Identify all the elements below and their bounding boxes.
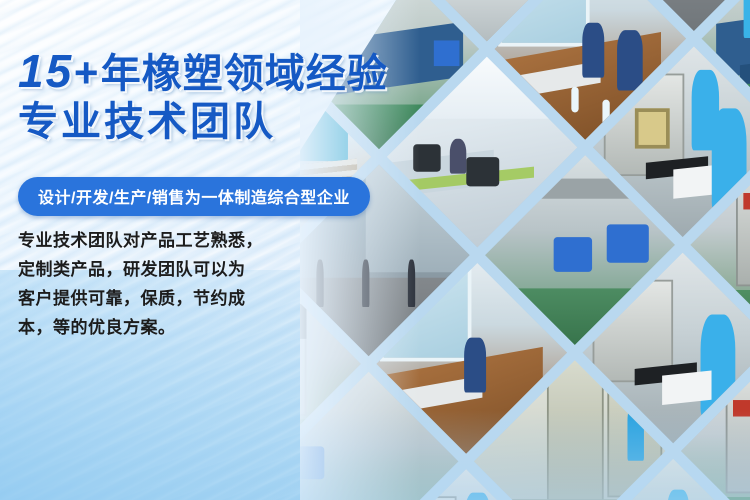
years-number: 15 — [18, 45, 73, 97]
promo-banner: 15+年橡塑领域经验 专业技术团队 设计/开发/生产/销售为一体制造综合型企业 … — [0, 0, 750, 500]
body-paragraph-line: 客户提供可靠，保质，节约成 — [18, 284, 280, 313]
headline-line-1: 15+年橡塑领域经验 — [18, 48, 468, 94]
body-paragraph-line: 专业技术团队对产品工艺熟悉， — [18, 226, 280, 255]
body-paragraph-line: 定制类产品，研发团队可以为 — [18, 255, 280, 284]
plus-symbol-icon: + — [73, 49, 99, 96]
body-paragraph: 专业技术团队对产品工艺熟悉， 定制类产品，研发团队可以为 客户提供可靠，保质，节… — [18, 226, 280, 342]
status-badge: 设计/开发/生产/销售为一体制造综合型企业 — [18, 177, 370, 216]
headline-line-1-suffix: 年橡塑领域经验 — [101, 52, 388, 96]
copy-block: 15+年橡塑领域经验 专业技术团队 设计/开发/生产/销售为一体制造综合型企业 … — [0, 0, 470, 500]
body-paragraph-line: 本，等的优良方案。 — [18, 313, 280, 342]
headline-line-2: 专业技术团队 — [18, 102, 468, 142]
page-title: 15+年橡塑领域经验 专业技术团队 — [18, 48, 468, 142]
